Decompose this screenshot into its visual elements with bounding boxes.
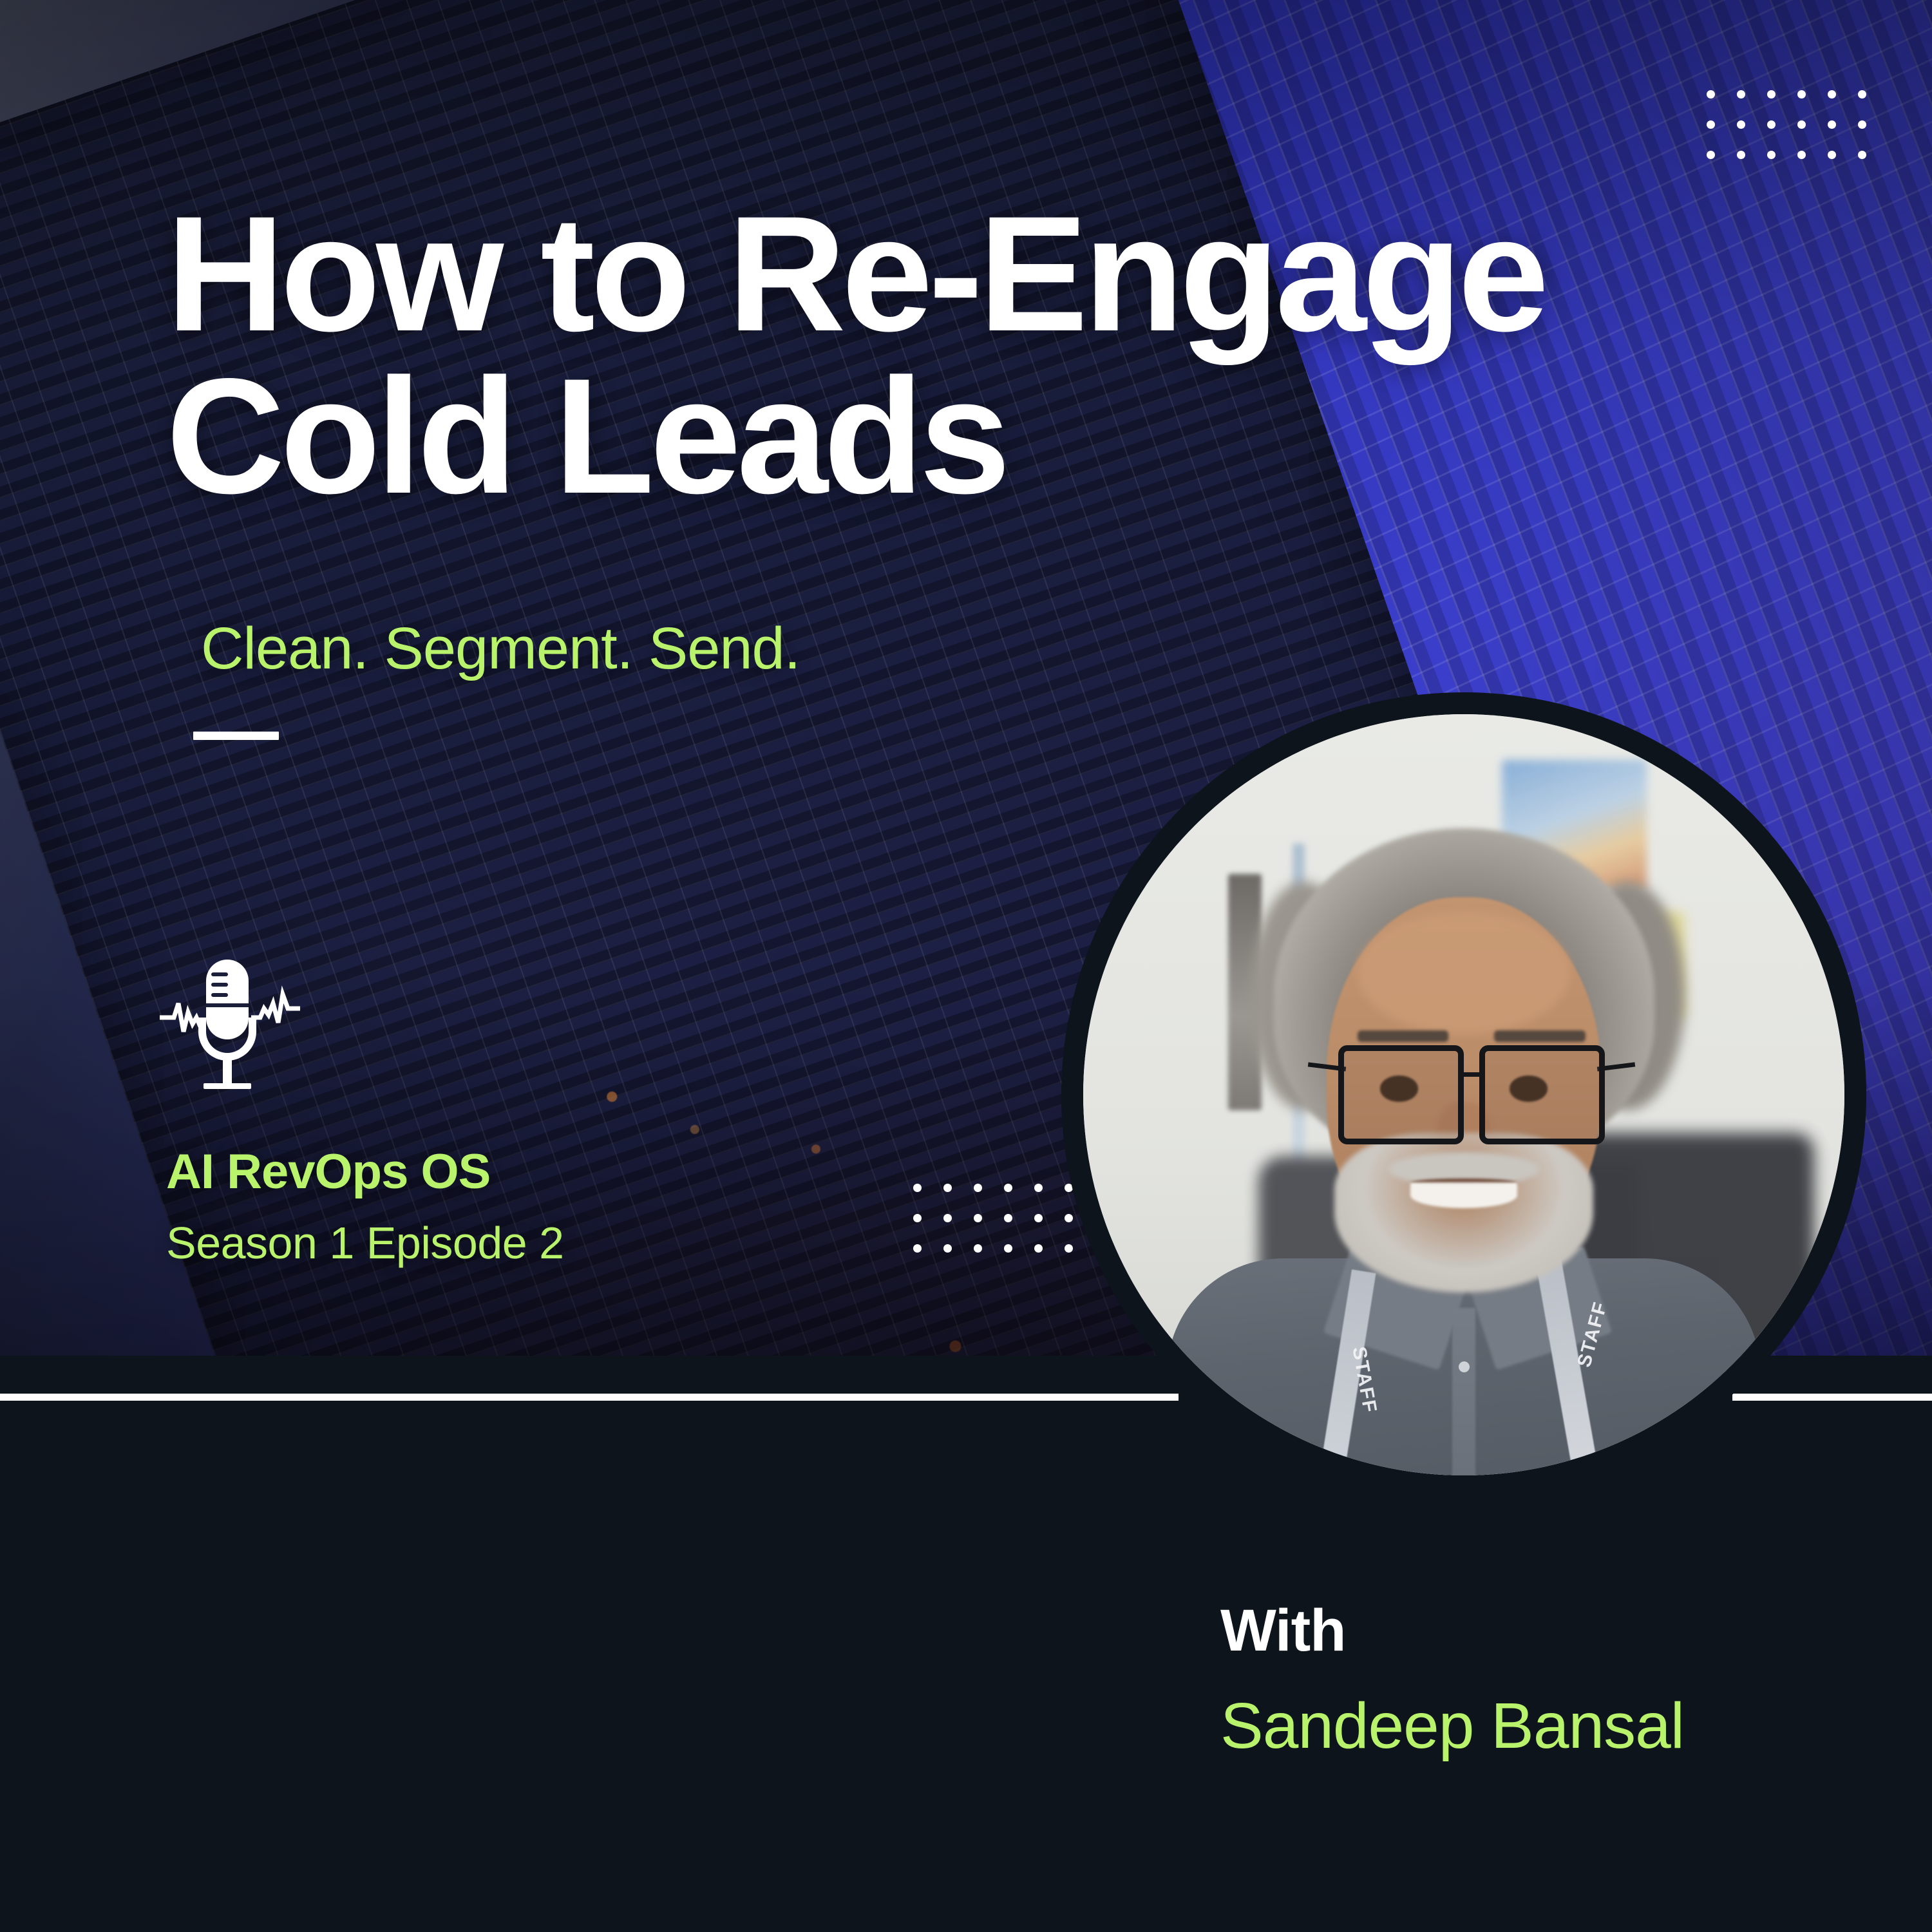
episode-title-line-1: How to Re-Engage xyxy=(166,193,1712,355)
grid-dot xyxy=(1797,90,1806,99)
divider-line-left xyxy=(0,1394,1179,1401)
grid-dot xyxy=(1034,1214,1043,1222)
grid-dot xyxy=(1828,120,1836,129)
grid-dot xyxy=(1737,151,1745,159)
grid-dot xyxy=(1737,90,1745,99)
grid-dot xyxy=(1858,120,1866,129)
glasses-bridge xyxy=(1463,1072,1482,1077)
grid-dot xyxy=(1004,1214,1012,1222)
grid-dot xyxy=(1004,1184,1012,1192)
grid-dot xyxy=(913,1244,922,1253)
grid-dot xyxy=(1034,1244,1043,1253)
grid-dot xyxy=(1737,120,1745,129)
grid-dot xyxy=(1707,120,1715,129)
show-episode: Season 1 Episode 2 xyxy=(166,1217,564,1269)
dot-grid-top-right xyxy=(1707,90,1888,181)
glasses-lens-left xyxy=(1338,1045,1464,1144)
episode-subtitle: Clean. Segment. Send. xyxy=(201,615,800,683)
dot-grid-middle xyxy=(913,1184,1095,1274)
guest-block: With Sandeep Bansal xyxy=(1220,1597,1684,1763)
grid-dot xyxy=(1767,151,1776,159)
mouth xyxy=(1410,1182,1517,1208)
grid-dot xyxy=(1797,151,1806,159)
glasses-lens-right xyxy=(1479,1045,1605,1144)
eyebrow-right xyxy=(1494,1030,1586,1043)
grid-dot xyxy=(1767,90,1776,99)
grid-dot xyxy=(1034,1184,1043,1192)
grid-dot xyxy=(1004,1244,1012,1253)
grid-dot xyxy=(1828,151,1836,159)
with-label: With xyxy=(1220,1597,1684,1665)
grid-dot xyxy=(1707,151,1715,159)
grid-dot xyxy=(1065,1214,1073,1222)
guest-avatar: STAFF STAFF xyxy=(1061,692,1866,1497)
shirt-placket xyxy=(1452,1308,1475,1475)
grid-dot xyxy=(943,1184,952,1192)
grid-dot xyxy=(913,1184,922,1192)
grid-dot xyxy=(1065,1244,1073,1253)
episode-title-line-2: Cold Leads xyxy=(166,355,1712,518)
grid-dot xyxy=(974,1184,982,1192)
grid-dot xyxy=(943,1214,952,1222)
podcast-episode-poster: How to Re-Engage Cold Leads Clean. Segme… xyxy=(0,0,1932,1932)
grid-dot xyxy=(1707,90,1715,99)
episode-title: How to Re-Engage Cold Leads xyxy=(166,193,1712,518)
forehead-highlight xyxy=(1358,912,1571,1034)
show-name: AI RevOps OS xyxy=(166,1144,490,1200)
grid-dot xyxy=(1797,120,1806,129)
accent-rule xyxy=(193,732,279,740)
eyebrow-left xyxy=(1358,1030,1449,1043)
guest-name: Sandeep Bansal xyxy=(1220,1689,1684,1763)
grid-dot xyxy=(974,1244,982,1253)
microphone-waveform-icon xyxy=(153,958,300,1095)
grid-dot xyxy=(913,1214,922,1222)
grid-dot xyxy=(1828,90,1836,99)
grid-dot xyxy=(1858,90,1866,99)
grid-dot xyxy=(943,1244,952,1253)
grid-dot xyxy=(974,1214,982,1222)
guest-photo: STAFF STAFF xyxy=(1083,714,1844,1475)
grid-dot xyxy=(1767,120,1776,129)
grid-dot xyxy=(1858,151,1866,159)
